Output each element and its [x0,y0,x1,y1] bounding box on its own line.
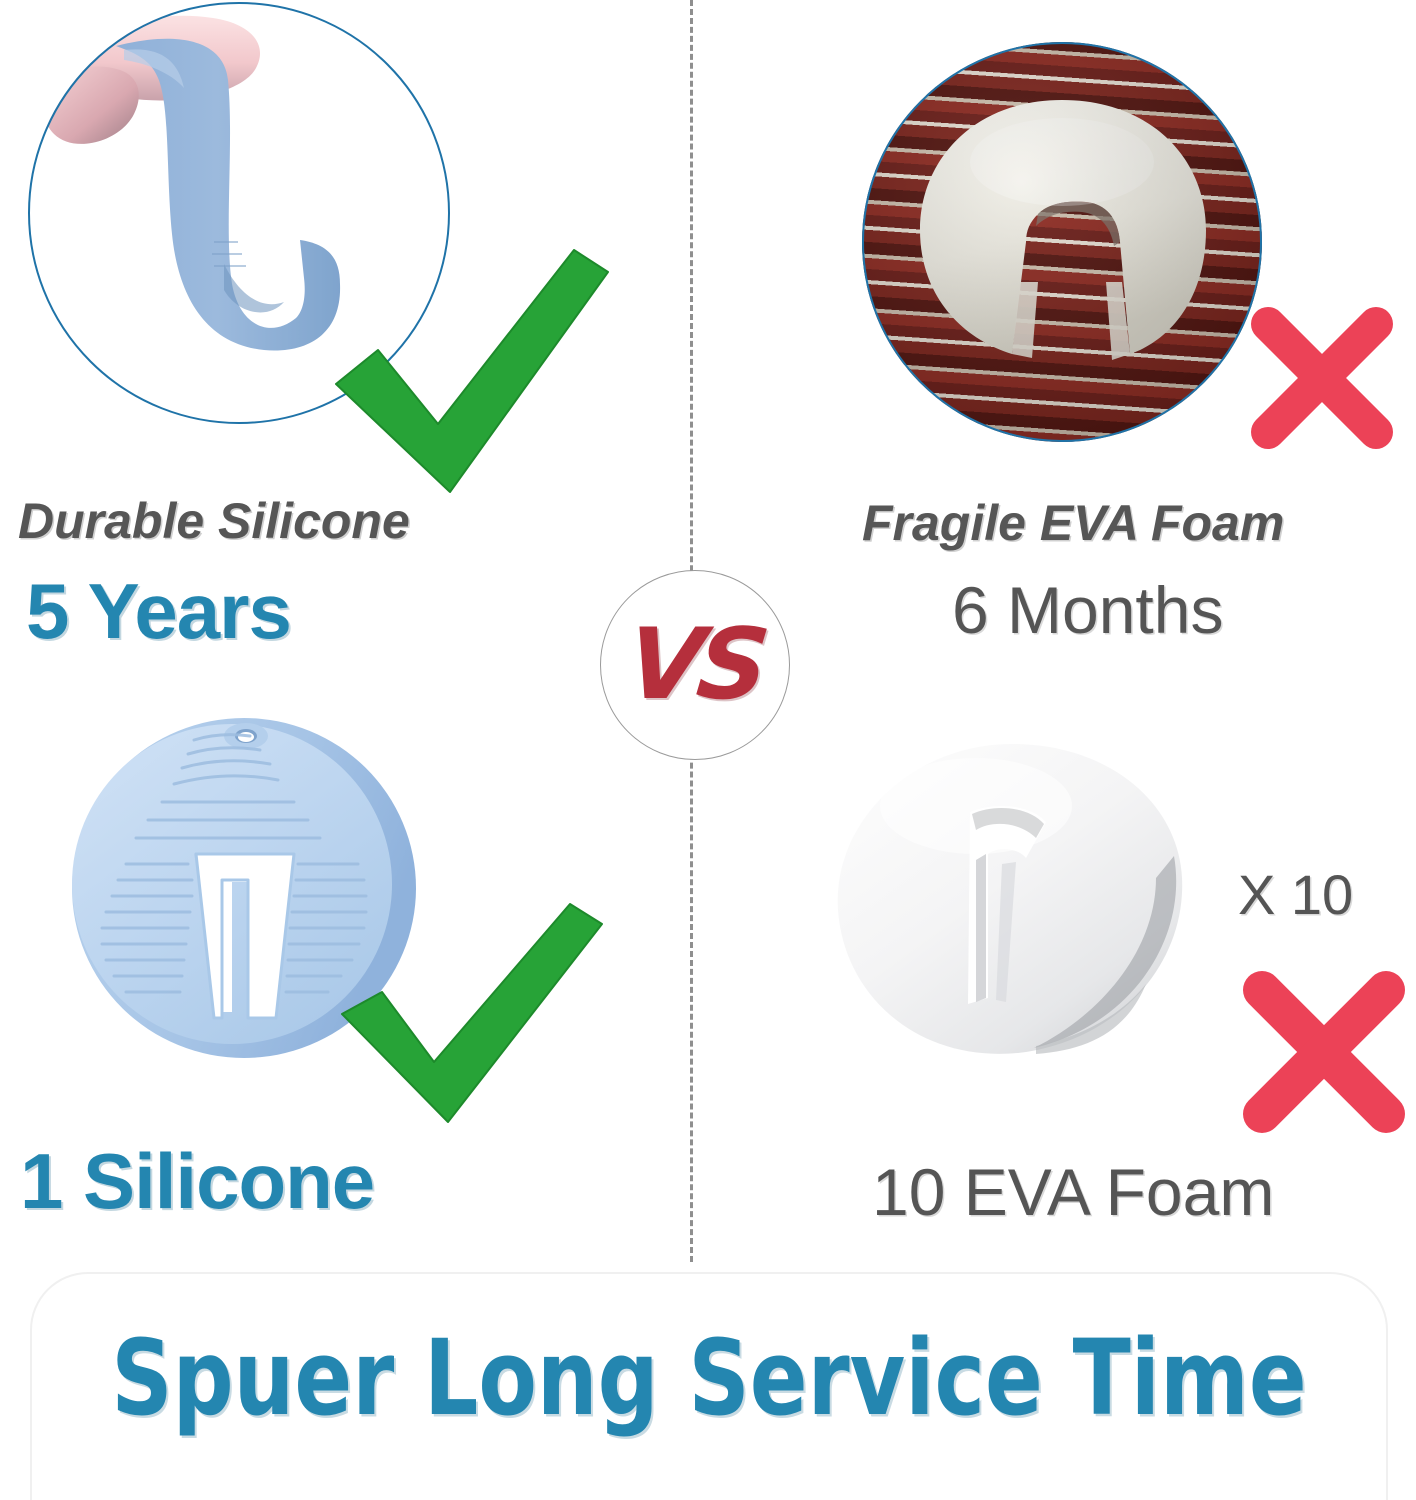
left-quantity-label: 1 Silicone [20,1136,374,1227]
eva-foam-on-floor-photo [862,42,1262,442]
left-product-label: Durable Silicone [18,492,410,550]
eva-foam-multiplier-label: X 10 [1238,862,1353,927]
red-x-icon [1234,962,1414,1142]
right-lifespan-value: 6 Months [952,572,1223,648]
versus-badge: VS [600,570,790,760]
red-x-icon [1244,300,1400,456]
product-comparison-infographic: Durable Silicone 5 Years Fragile EVA Foa… [0,0,1416,1500]
right-product-label: Fragile EVA Foam [862,494,1284,552]
green-check-icon [330,896,610,1132]
left-lifespan-value: 5 Years [26,566,291,657]
versus-label: VS [623,616,768,714]
white-eva-foam-door-stopper-photo [826,736,1198,1066]
right-quantity-label: 10 EVA Foam [872,1154,1274,1230]
green-check-icon [330,238,614,506]
headline-banner: Spuer Long Service Time [30,1272,1388,1500]
banner-headline: Spuer Long Service Time [111,1317,1306,1439]
photo-vignette [862,42,1262,442]
